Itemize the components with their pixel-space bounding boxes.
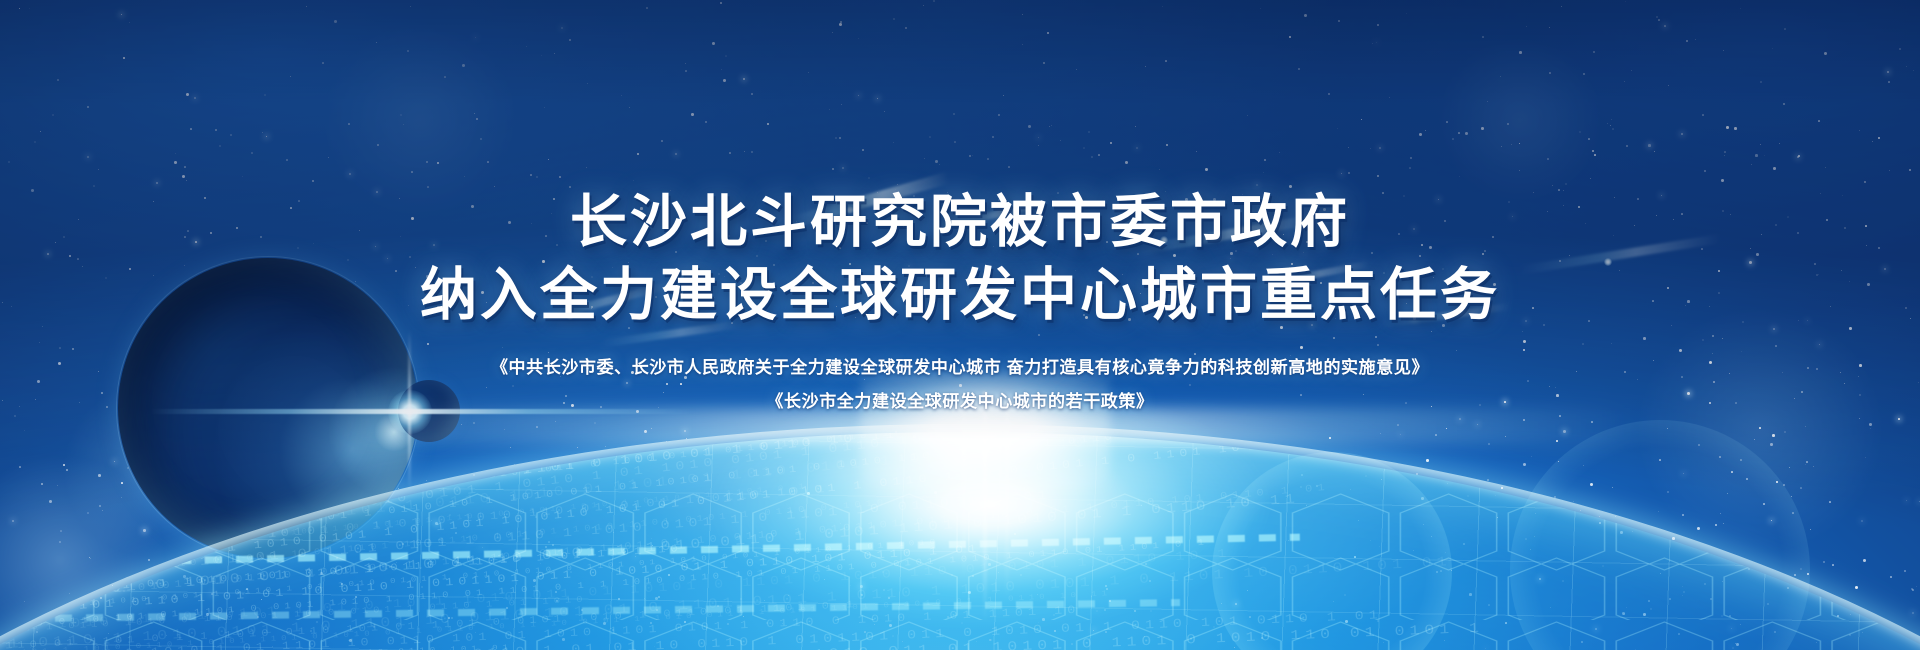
subtitle-line-2: 《长沙市全力建设全球研发中心城市的若干政策》 — [491, 385, 1429, 419]
hero-banner: 01 10 0110 1 0101101 011 0 1010 01 1 011… — [0, 0, 1920, 650]
banner-content: 长沙北斗研究院被市委市政府 纳入全力建设全球研发中心城市重点任务 《中共长沙市委… — [0, 0, 1920, 650]
banner-title: 长沙北斗研究院被市委市政府 纳入全力建设全球研发中心城市重点任务 — [420, 186, 1500, 332]
banner-subtitle: 《中共长沙市委、长沙市人民政府关于全力建设全球研发中心城市 奋力打造具有核心竟争… — [491, 351, 1429, 419]
subtitle-line-1: 《中共长沙市委、长沙市人民政府关于全力建设全球研发中心城市 奋力打造具有核心竟争… — [491, 351, 1429, 385]
title-line-2: 纳入全力建设全球研发中心城市重点任务 — [420, 259, 1500, 332]
title-line-1: 长沙北斗研究院被市委市政府 — [420, 186, 1500, 259]
